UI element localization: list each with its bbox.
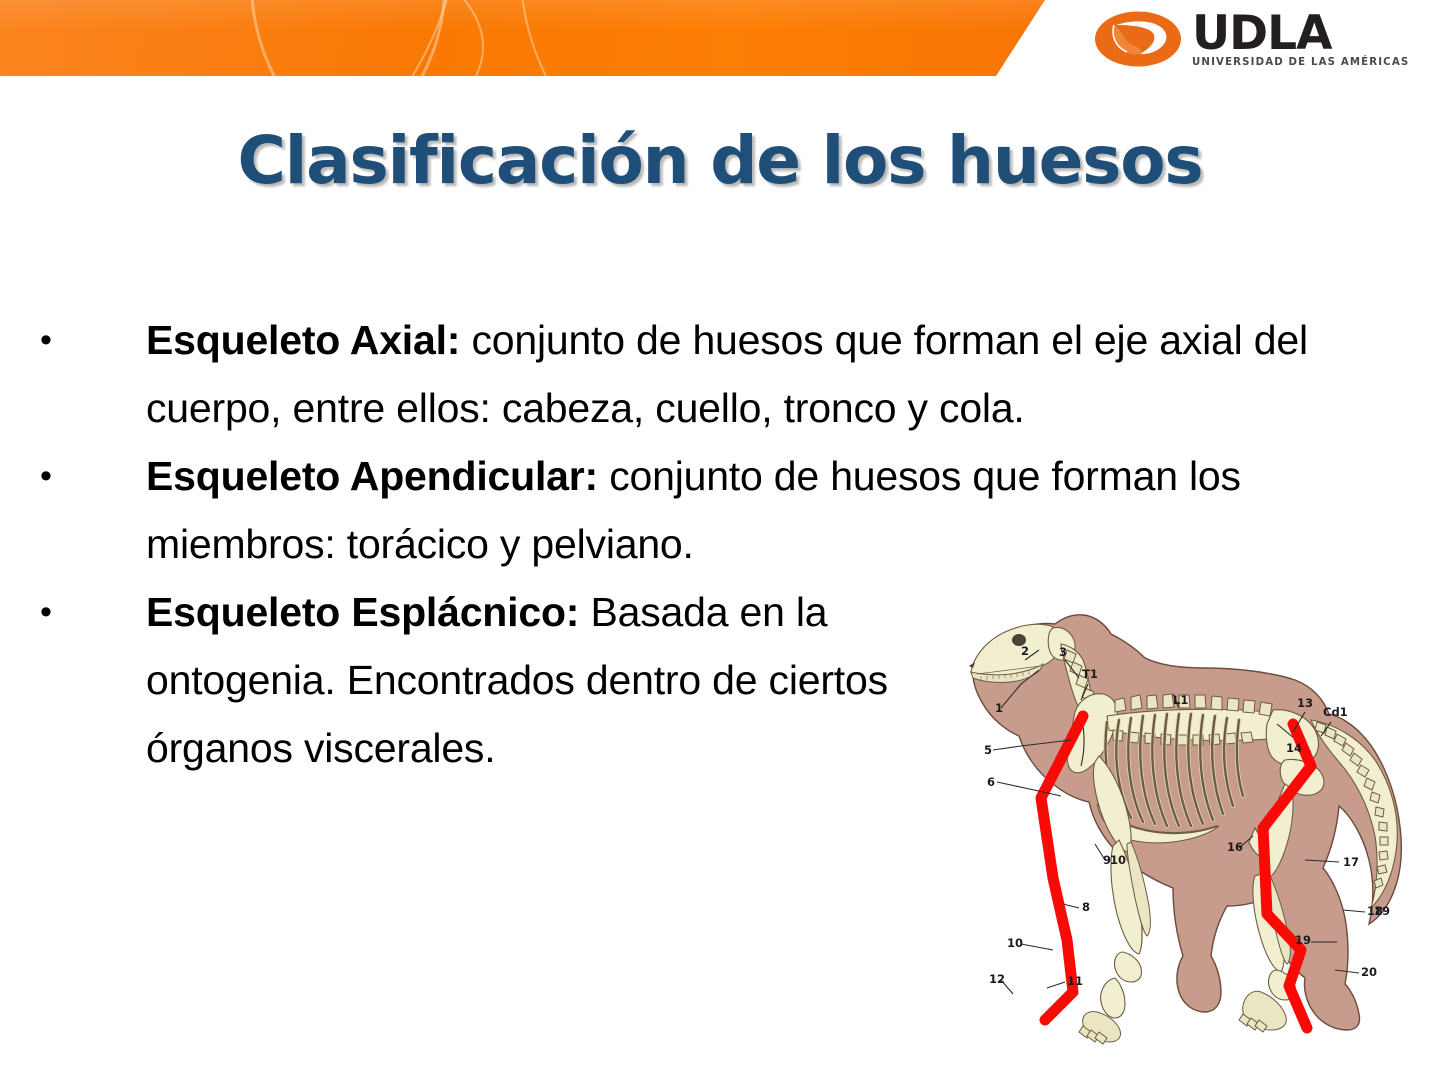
bullet-marker-icon: • — [22, 578, 146, 646]
figure-label: L1 — [1173, 693, 1188, 707]
header-orange-band — [0, 0, 1045, 76]
figure-label: 3 — [1059, 645, 1067, 659]
figure-label: 19 — [1374, 904, 1390, 918]
figure-label: 10 — [1110, 853, 1126, 867]
figure-label: 10 — [1007, 936, 1023, 950]
figure-label: 2 — [1021, 644, 1029, 658]
udla-swirl-icon — [1092, 8, 1184, 70]
list-item-lead: Esqueleto Apendicular: — [146, 453, 598, 499]
figure-label: 17 — [1343, 855, 1359, 869]
figure-label: 19 — [1295, 933, 1311, 947]
udla-wordmark: UDLA — [1192, 12, 1409, 55]
figure-label: 12 — [989, 972, 1005, 986]
figure-label: 20 — [1361, 965, 1377, 979]
udla-tagline: UNIVERSIDAD DE LAS AMÉRICAS — [1192, 55, 1409, 68]
figure-label: 11 — [1067, 974, 1083, 988]
header-swoosh-arc — [520, 0, 1045, 76]
dog-skeleton-diagram: 1 2 3 T1 L1 13 Cd1 14 5 6 9 10 8 10 11 1… — [955, 588, 1440, 1056]
bullet-marker-icon: • — [22, 442, 146, 510]
figure-label: Cd1 — [1323, 705, 1348, 719]
dog-body-outline — [973, 615, 1401, 1030]
list-item-lead: Esqueleto Axial: — [146, 317, 460, 363]
figure-label: 5 — [984, 743, 992, 757]
bullet-marker-icon: • — [22, 306, 146, 374]
list-item: • Esqueleto Axial: conjunto de huesos qu… — [22, 306, 1422, 442]
list-item-text: Esqueleto Axial: conjunto de huesos que … — [146, 306, 1422, 442]
list-item-text: Esqueleto Esplácnico: Basada en la ontog… — [146, 578, 1026, 782]
udla-logo-text: UDLA UNIVERSIDAD DE LAS AMÉRICAS — [1192, 10, 1409, 68]
list-item-lead: Esqueleto Esplácnico: — [146, 589, 579, 635]
udla-logo: UDLA UNIVERSIDAD DE LAS AMÉRICAS — [1092, 4, 1366, 74]
figure-label: T1 — [1082, 667, 1098, 681]
figure-label: 6 — [987, 775, 995, 789]
header-swoosh-arc — [0, 0, 464, 76]
figure-label: 16 — [1227, 840, 1243, 854]
page-title: Clasificación de los huesos — [0, 122, 1440, 199]
figure-label: 13 — [1297, 696, 1313, 710]
figure-label: 8 — [1082, 900, 1090, 914]
list-item: • Esqueleto Apendicular: conjunto de hue… — [22, 442, 1422, 578]
figure-label: 14 — [1286, 741, 1302, 755]
slide-header: UDLA UNIVERSIDAD DE LAS AMÉRICAS — [0, 0, 1440, 90]
list-item-text: Esqueleto Apendicular: conjunto de hueso… — [146, 442, 1422, 578]
figure-label: 1 — [995, 701, 1003, 715]
